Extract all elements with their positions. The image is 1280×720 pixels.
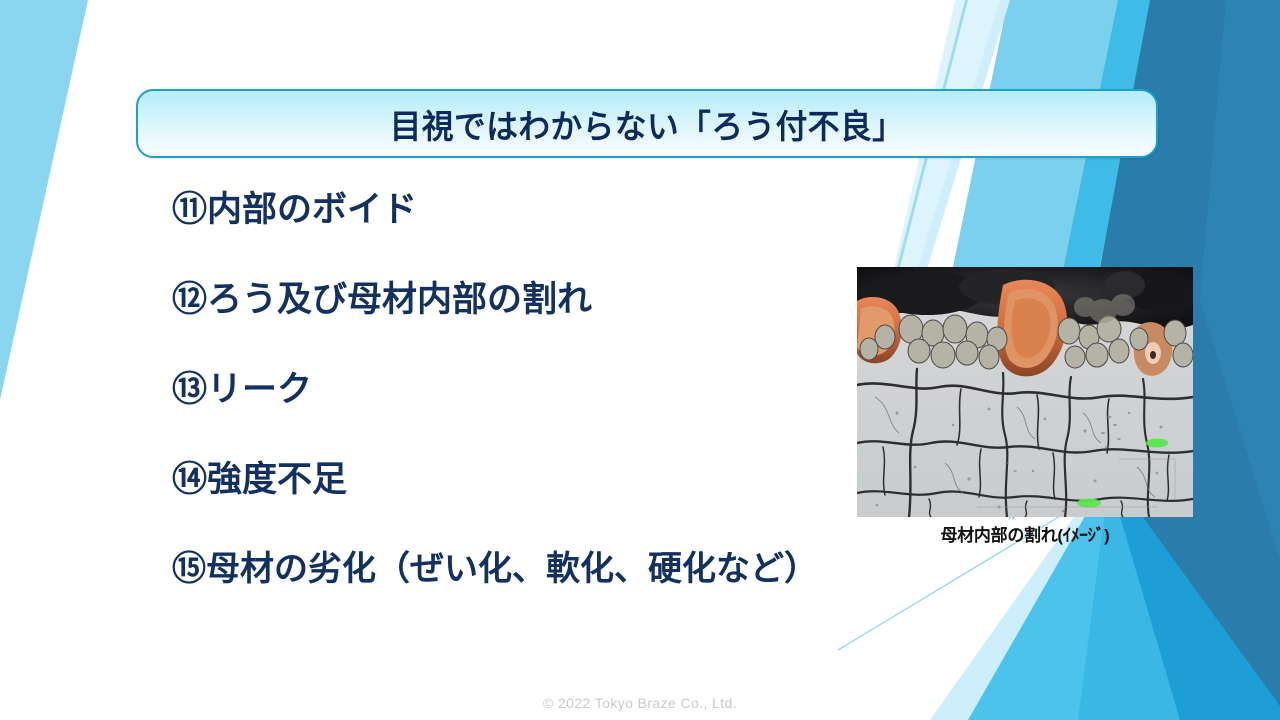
- list-item-marker: ⑮: [172, 541, 206, 590]
- list-item-marker: ⑫: [172, 271, 207, 322]
- figure-block: 母材内部の割れ(ｲﾒｰｼﾞ): [857, 267, 1193, 546]
- list-item-label: ろう及び母材内部の割れ: [207, 271, 592, 322]
- figure-caption: 母材内部の割れ(ｲﾒｰｼﾞ): [857, 521, 1193, 546]
- slide-canvas: 目視ではわからない「ろう付不良」 ⑪ 内部のボイド ⑫ ろう及び母材内部の割れ …: [0, 0, 1280, 720]
- micrograph-image: [857, 267, 1193, 517]
- list-item-marker: ⑬: [172, 361, 207, 412]
- list-item-marker: ⑭: [172, 451, 207, 502]
- bullet-list: ⑪ 内部のボイド ⑫ ろう及び母材内部の割れ ⑬ リーク ⑭ 強度不足 ⑮ 母材…: [172, 181, 852, 631]
- list-item: ⑬ リーク: [172, 361, 852, 451]
- list-item-label: 強度不足: [207, 451, 347, 502]
- list-item: ⑪ 内部のボイド: [172, 181, 852, 271]
- list-item-label: 内部のボイド: [207, 181, 417, 232]
- list-item-label: リーク: [207, 361, 312, 412]
- list-item: ⑫ ろう及び母材内部の割れ: [172, 271, 852, 361]
- page-title: 目視ではわからない「ろう付不良」: [390, 100, 905, 148]
- list-item: ⑭ 強度不足: [172, 451, 852, 541]
- list-item-marker: ⑪: [172, 181, 207, 232]
- crack-highlight-marker: [1077, 499, 1101, 508]
- list-item-label: 母材の劣化（ぜい化、軟化、硬化など）: [206, 541, 818, 590]
- list-item: ⑮ 母材の劣化（ぜい化、軟化、硬化など）: [172, 541, 852, 631]
- title-banner: 目視ではわからない「ろう付不良」: [136, 89, 1158, 158]
- footer-copyright: © 2022 Tokyo Braze Co., Ltd.: [0, 695, 1280, 711]
- crack-highlight-marker: [1146, 439, 1168, 448]
